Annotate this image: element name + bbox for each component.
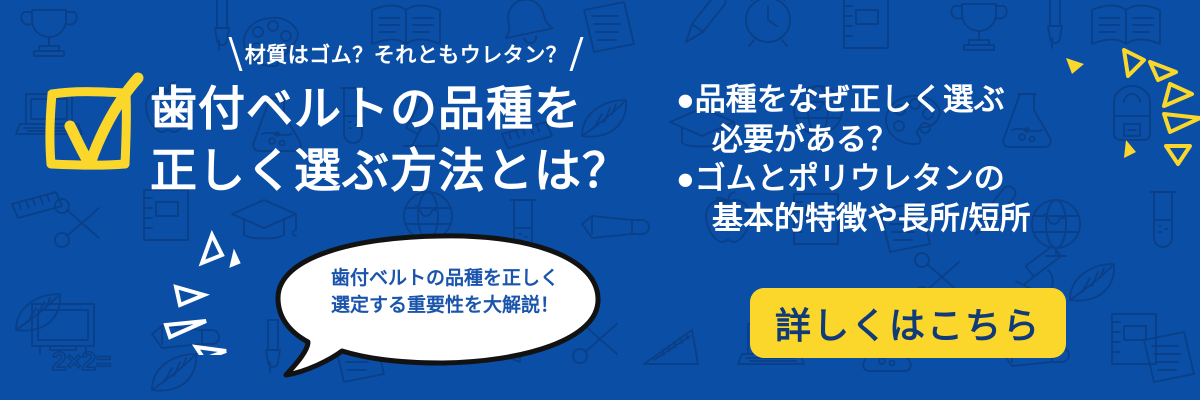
bullet-1-line-2: 必要がある？	[676, 120, 1096, 160]
bullet-1-line-1: ●品種をなぜ正しく選ぶ	[676, 80, 1096, 120]
checkbox-checked-icon	[38, 72, 148, 177]
bubble-line-2: 選定する重要性を大解説！	[300, 293, 590, 320]
tagline-slash-right	[570, 37, 584, 71]
headline: 歯付ベルトの品種を 正しく選ぶ方法とは？	[150, 78, 670, 202]
tagline-slash-left	[228, 37, 242, 71]
bullet-2-line-2: 基本的特徴や長所/短所	[676, 199, 1096, 239]
cta-button-details[interactable]: 詳しくはこちら	[750, 288, 1066, 358]
bullet-item-1: ●品種をなぜ正しく選ぶ 必要がある？	[676, 80, 1096, 159]
chalkboard-text: 2×2=	[52, 346, 111, 376]
headline-line-2: 正しく選ぶ方法とは？	[150, 140, 670, 202]
bullet-list: ●品種をなぜ正しく選ぶ 必要がある？ ●ゴムとポリウレタンの 基本的特徴や長所/…	[676, 80, 1096, 239]
cta-button-label: 詳しくはこちら	[775, 297, 1041, 349]
promo-banner: 2×2=	[0, 0, 1200, 400]
tagline: 材質はゴム？それともウレタン？	[196, 34, 616, 74]
speech-bubble-text: 歯付ベルトの品種を正しく 選定する重要性を大解説！	[300, 266, 590, 320]
bubble-line-1: 歯付ベルトの品種を正しく	[300, 266, 590, 293]
bullet-item-2: ●ゴムとポリウレタンの 基本的特徴や長所/短所	[676, 159, 1096, 238]
headline-line-1: 歯付ベルトの品種を	[150, 78, 670, 140]
tagline-text: 材質はゴム？それともウレタン？	[245, 39, 568, 69]
bullet-2-line-1: ●ゴムとポリウレタンの	[676, 159, 1096, 199]
speech-bubble: 歯付ベルトの品種を正しく 選定する重要性を大解説！	[272, 232, 608, 378]
